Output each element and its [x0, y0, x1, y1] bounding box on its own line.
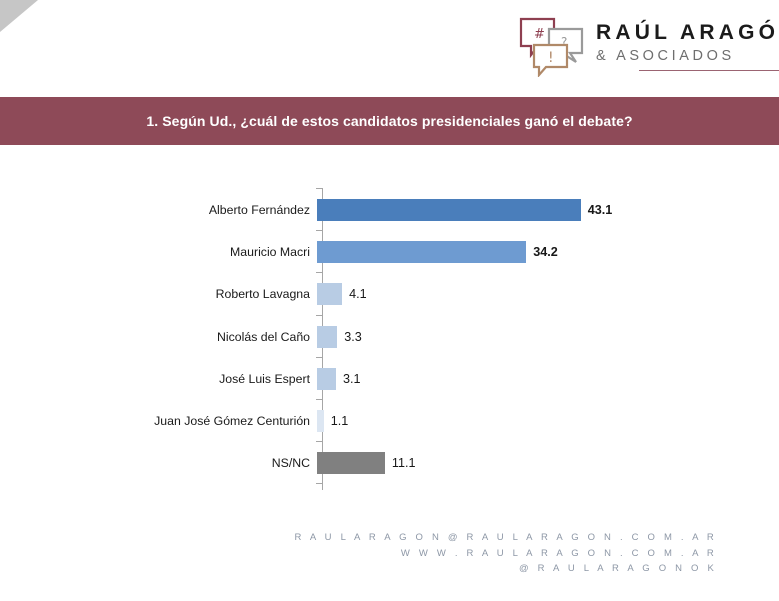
- bar-value-label: 34.2: [533, 245, 558, 259]
- chart-plot-area: Alberto Fernández43.1Mauricio Macri34.2R…: [140, 188, 700, 498]
- speech-bubbles-svg: # ? !: [518, 15, 586, 77]
- bar-category-label: NS/NC: [140, 456, 316, 470]
- contact-footer: R A U L A R A G O N @ R A U L A R A G O …: [0, 530, 779, 577]
- axis-tick: [316, 188, 322, 189]
- question-banner: 1. Según Ud., ¿cuál de estos candidatos …: [0, 97, 779, 145]
- bar-container: 1.1: [317, 410, 348, 432]
- footer-social[interactable]: @ R A U L A R A G O N O K: [0, 561, 717, 577]
- axis-tick: [316, 399, 322, 400]
- bar-category-label: Alberto Fernández: [140, 203, 316, 217]
- axis-tick: [316, 483, 322, 484]
- axis-tick: [316, 441, 322, 442]
- bar-value-label: 3.3: [344, 330, 362, 344]
- bar: [317, 199, 581, 221]
- bar: [317, 241, 526, 263]
- footer-website[interactable]: W W W . R A U L A R A G O N . C O M . A …: [0, 546, 717, 562]
- footer-email[interactable]: R A U L A R A G O N @ R A U L A R A G O …: [0, 530, 717, 546]
- bar: [317, 326, 337, 348]
- bar-row: José Luis Espert3.1: [140, 368, 700, 390]
- brand-name: RAÚL ARAGÓN: [596, 21, 779, 45]
- bar-row: Alberto Fernández43.1: [140, 199, 700, 221]
- axis-tick: [316, 357, 322, 358]
- brand-wordmark: RAÚL ARAGÓN & ASOCIADOS: [596, 21, 779, 72]
- brand-underline: [639, 70, 779, 71]
- bar-container: 34.2: [317, 241, 558, 263]
- bar-row: Nicolás del Caño3.3: [140, 326, 700, 348]
- bar-category-label: Nicolás del Caño: [140, 330, 316, 344]
- bar-row: NS/NC11.1: [140, 452, 700, 474]
- brand-logo: # ? ! RAÚL ARAGÓN & ASOCIADOS: [518, 8, 766, 84]
- bar-container: 11.1: [317, 452, 416, 474]
- bar-value-label: 4.1: [349, 287, 367, 301]
- bar: [317, 283, 342, 305]
- bar-category-label: Roberto Lavagna: [140, 287, 316, 301]
- svg-text:!: !: [548, 50, 554, 66]
- bar-row: Juan José Gómez Centurión1.1: [140, 410, 700, 432]
- bar-category-label: José Luis Espert: [140, 372, 316, 386]
- axis-tick: [316, 315, 322, 316]
- bar-container: 4.1: [317, 283, 367, 305]
- axis-tick: [316, 230, 322, 231]
- bar: [317, 368, 336, 390]
- bar-category-label: Juan José Gómez Centurión: [140, 414, 316, 428]
- bar-value-label: 11.1: [392, 456, 416, 470]
- bar-value-label: 1.1: [331, 414, 349, 428]
- corner-triangle-decoration: [0, 0, 38, 32]
- bar-value-label: 43.1: [588, 203, 613, 217]
- bar-container: 3.3: [317, 326, 362, 348]
- axis-tick: [316, 272, 322, 273]
- speech-bubbles-icon: # ? !: [518, 15, 586, 77]
- bar-container: 43.1: [317, 199, 612, 221]
- bar-value-label: 3.1: [343, 372, 361, 386]
- bar: [317, 410, 324, 432]
- bar-row: Roberto Lavagna4.1: [140, 283, 700, 305]
- bar: [317, 452, 385, 474]
- bar-container: 3.1: [317, 368, 360, 390]
- svg-text:#: #: [534, 27, 545, 42]
- bar-category-label: Mauricio Macri: [140, 245, 316, 259]
- bar-row: Mauricio Macri34.2: [140, 241, 700, 263]
- bar-chart: Alberto Fernández43.1Mauricio Macri34.2R…: [0, 188, 779, 498]
- question-title: 1. Según Ud., ¿cuál de estos candidatos …: [146, 113, 632, 129]
- brand-subtitle: & ASOCIADOS: [596, 48, 779, 65]
